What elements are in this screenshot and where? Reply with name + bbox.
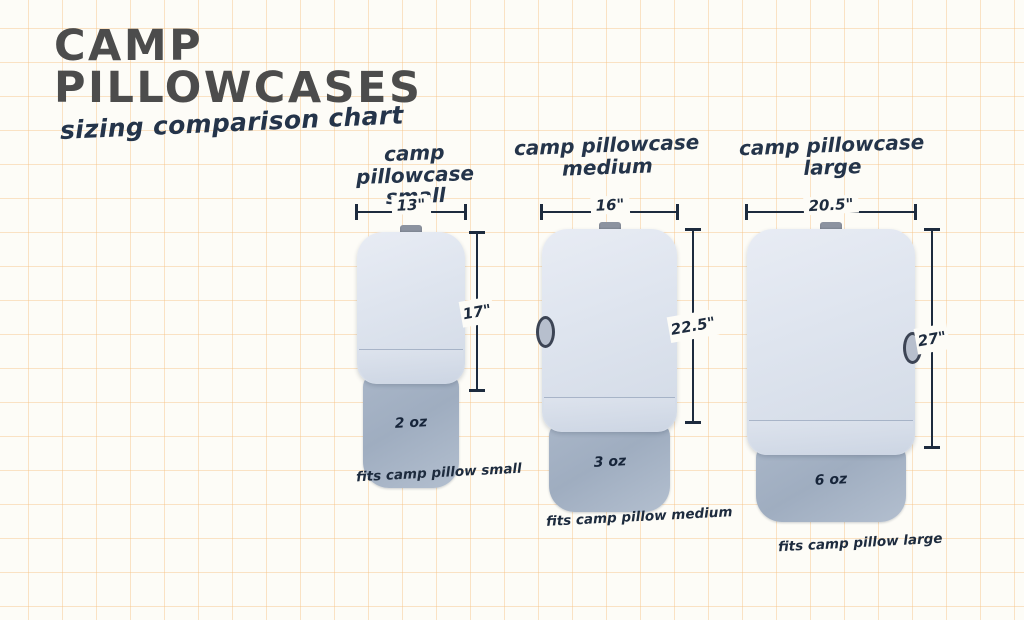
pillow-insert-medium: 3 oz	[549, 422, 670, 512]
pillowcase-hem-medium	[544, 397, 675, 432]
product-illustration-medium: 3 oz	[540, 222, 679, 507]
heading-block: CAMP PILLOWCASES sizing comparison chart	[54, 26, 422, 145]
product-title-medium: camp pillowcase medium	[511, 132, 702, 182]
width-dimension-medium: 16"	[540, 203, 679, 221]
pillowcase-small	[357, 232, 465, 384]
fits-caption-large: fits camp pillow large	[778, 531, 943, 556]
product-illustration-small: 2 oz	[355, 225, 467, 490]
pillowcase-hem-small	[359, 349, 463, 384]
sizing-chart-canvas: CAMP PILLOWCASES sizing comparison chart…	[0, 0, 1024, 620]
dimension-cap-bottom	[924, 446, 940, 449]
width-dimension-label-large: 20.5"	[803, 195, 859, 216]
width-dimension-label-small: 13"	[391, 195, 431, 215]
pillowcase-hem-large	[749, 420, 913, 455]
dimension-cap-right	[464, 204, 467, 220]
pillowcase-large	[747, 229, 915, 455]
height-dimension-large: 27"	[923, 228, 941, 449]
height-dimension-label-small: 17"	[459, 296, 496, 327]
dimension-cap-bottom	[685, 421, 701, 424]
dimension-cap-bottom	[469, 389, 485, 392]
height-dimension-small: 17"	[468, 231, 486, 392]
pillowcase-side-loop-medium	[536, 316, 555, 348]
dimension-cap-right	[914, 204, 917, 220]
dimension-cap-right	[676, 204, 679, 220]
product-title-large: camp pillowcase large	[736, 132, 927, 182]
height-dimension-label-large: 27"	[914, 323, 951, 354]
width-dimension-label-medium: 16"	[590, 195, 630, 215]
weight-label-small: 2 oz	[394, 414, 427, 432]
pillowcase-medium	[542, 229, 677, 432]
weight-label-medium: 3 oz	[593, 453, 626, 471]
width-dimension-small: 13"	[355, 203, 467, 221]
width-dimension-large: 20.5"	[745, 203, 917, 221]
height-dimension-medium: 22.5"	[684, 228, 702, 424]
product-illustration-large: 6 oz	[745, 222, 917, 507]
weight-label-large: 6 oz	[814, 471, 847, 489]
pillow-insert-large: 6 oz	[756, 444, 906, 522]
page-title-line-1: CAMP	[54, 26, 422, 68]
